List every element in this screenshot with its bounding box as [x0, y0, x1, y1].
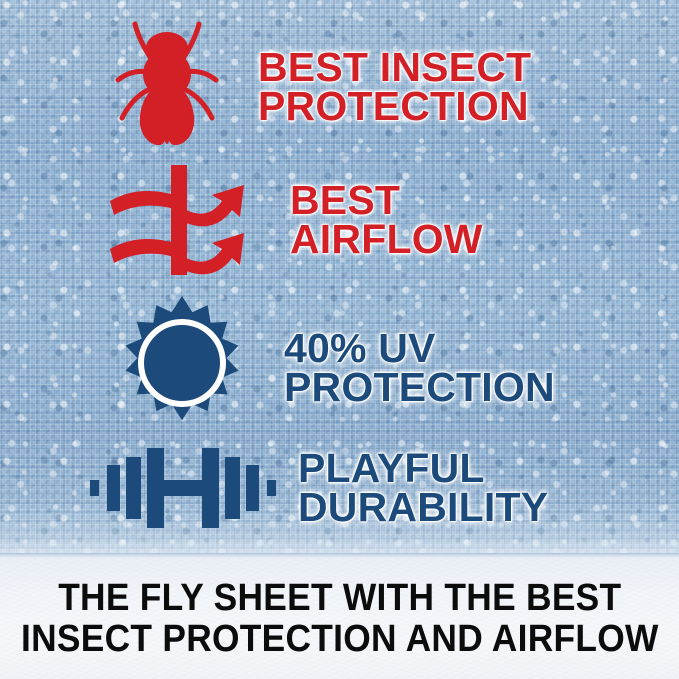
feature-label-uv-protection: 40% UV PROTECTION	[284, 329, 555, 408]
tagline-line-2: INSECT PROTECTION AND AIRFLOW	[21, 619, 659, 659]
feature-label-line-2: PROTECTION	[258, 87, 531, 126]
feature-label-line-2: AIRFLOW	[290, 220, 483, 259]
fly-icon-box	[108, 14, 226, 156]
feature-label-airflow: BEST AIRFLOW	[290, 181, 483, 260]
feature-label-line-1: BEST	[290, 181, 483, 220]
feature-row-airflow: BEST AIRFLOW	[108, 165, 483, 275]
feature-label-line-1: PLAYFUL	[298, 449, 548, 488]
feature-label-line-1: BEST INSECT	[258, 48, 531, 87]
feature-label-line-1: 40% UV	[284, 329, 555, 368]
dumbbell-icon	[88, 440, 278, 536]
feature-row-insect-protection: BEST INSECT PROTECTION	[108, 14, 531, 156]
feature-row-durability: PLAYFUL DURABILITY	[88, 440, 548, 536]
feature-label-line-2: PROTECTION	[284, 368, 555, 407]
sun-icon-box	[108, 296, 256, 440]
feature-label-line-2: DURABILITY	[298, 488, 548, 527]
feature-row-uv-protection: 40% UV PROTECTION	[108, 296, 555, 440]
airflow-arrows-icon	[108, 165, 258, 275]
sun-uv-icon	[108, 296, 256, 440]
bottom-tagline-banner: THE FLY SHEET WITH THE BEST INSECT PROTE…	[0, 558, 679, 679]
feature-label-durability: PLAYFUL DURABILITY	[298, 449, 548, 528]
feature-label-insect-protection: BEST INSECT PROTECTION	[258, 48, 531, 127]
tagline-line-1: THE FLY SHEET WITH THE BEST	[58, 578, 621, 618]
feature-infographic: BEST INSECT PROTECTION BEST AIRFLOW	[0, 0, 679, 679]
dumbbell-icon-box	[88, 440, 278, 536]
airflow-icon-box	[108, 165, 258, 275]
fly-icon	[108, 14, 226, 156]
